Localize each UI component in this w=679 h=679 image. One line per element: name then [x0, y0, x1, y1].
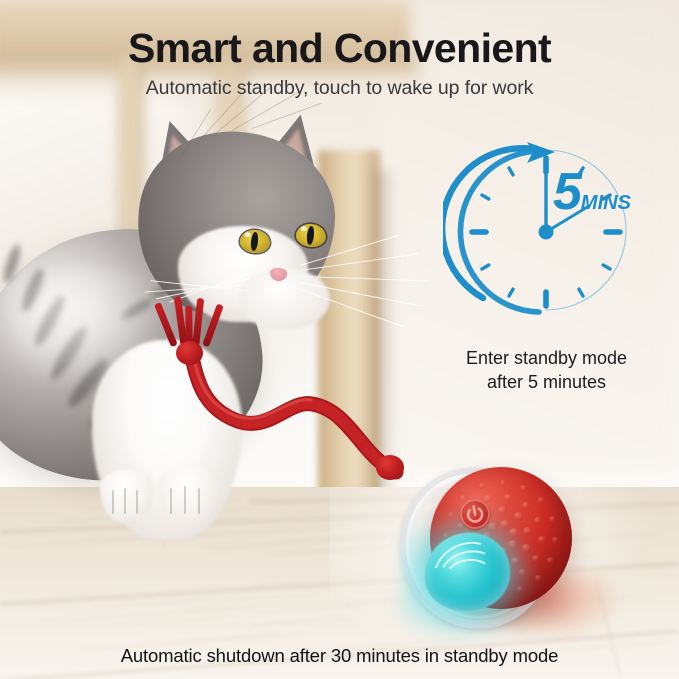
- cat-toe-3: [170, 488, 172, 514]
- page-subtitle: Automatic standby, touch to wake up for …: [0, 77, 679, 100]
- ball-bump-38: [520, 485, 527, 491]
- clock-caption-line2: after 5 minutes: [404, 370, 679, 394]
- clock-tick-10: [482, 195, 489, 199]
- clock-caption-line1: Enter standby mode: [404, 346, 679, 370]
- clock-tick-7: [509, 289, 513, 296]
- cat-toe-5: [198, 488, 200, 514]
- cat-pupil-left: [250, 232, 259, 252]
- standby-clock-graphic: 5MINS: [443, 140, 658, 335]
- clock-duration-label: 5MINS: [553, 162, 631, 222]
- ball-bump-40: [549, 516, 556, 522]
- footer-caption: Automatic shutdown after 30 minutes in s…: [0, 645, 679, 667]
- cat-ball-toy[interactable]: [398, 455, 588, 640]
- cat-toe-1: [124, 488, 126, 514]
- cat-toe-2: [136, 490, 138, 514]
- cat-toe-4: [184, 486, 186, 514]
- ball-bump-42: [547, 557, 554, 563]
- cat-pupil-right: [306, 226, 315, 246]
- power-button[interactable]: [458, 497, 493, 532]
- cat-eye-glint-right: [300, 226, 306, 232]
- product-marketing-image: 5MINS Smart and Convenient Automatic sta…: [0, 0, 679, 679]
- clock-duration-unit: MINS: [581, 192, 631, 214]
- page-title: Smart and Convenient: [0, 25, 679, 72]
- clock-tick-5: [579, 289, 583, 296]
- ball-bump-39: [538, 497, 545, 503]
- rope-knot-upper: [176, 341, 203, 365]
- ball-bump-24: [504, 494, 512, 501]
- cat-eye-glint-left: [244, 232, 250, 238]
- cat-paw-right: [158, 466, 218, 524]
- clock-caption: Enter standby mode after 5 minutes: [404, 346, 679, 394]
- clock-tick-11: [509, 168, 513, 175]
- clock-tick-4: [603, 265, 610, 269]
- power-icon: [458, 497, 493, 532]
- clock-tick-8: [482, 265, 489, 269]
- floor-grain: [38, 608, 236, 622]
- clock-center-pin: [539, 225, 554, 240]
- ball-bump-25: [522, 502, 530, 509]
- ball-bump-41: [552, 537, 559, 543]
- cat-paw-left: [100, 470, 154, 522]
- clock-duration-value: 5: [553, 163, 581, 221]
- cat-toe-0: [112, 490, 114, 514]
